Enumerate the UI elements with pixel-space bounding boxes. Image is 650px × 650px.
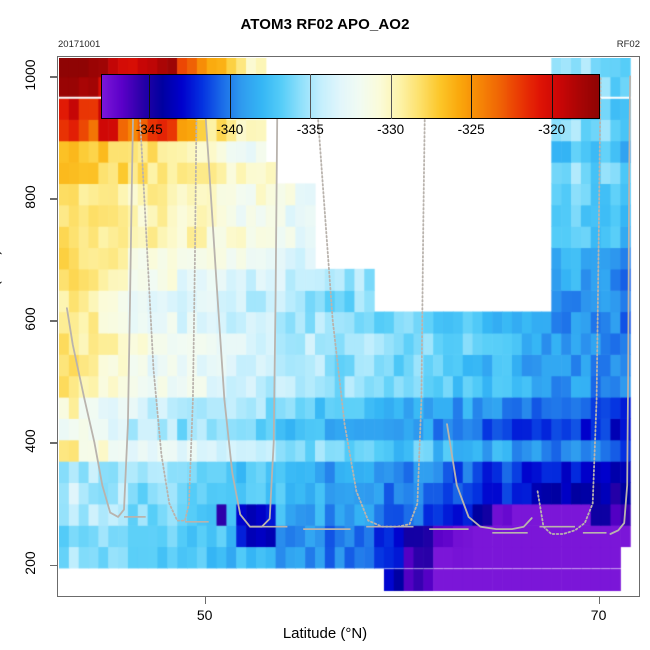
x-axis-label: Latitude (°N) — [0, 625, 650, 642]
date-label: 20171001 — [58, 39, 100, 50]
y-axis-tick — [50, 442, 57, 443]
colorbar-tick-label: -330 — [377, 122, 404, 137]
colorbar: -345-340-335-330-325-320 — [101, 74, 600, 119]
y-axis-tick-label: 200 — [22, 540, 38, 586]
colorbar-tick — [310, 74, 311, 119]
y-axis-tick-label: 1000 — [22, 52, 38, 98]
y-axis-tick-label: 400 — [22, 418, 38, 464]
colorbar-tick-label: -340 — [216, 122, 243, 137]
colorbar-tick-label: -335 — [297, 122, 324, 137]
y-axis-tick-label: 800 — [22, 174, 38, 220]
colorbar-tick — [230, 74, 231, 119]
colorbar-tick — [149, 74, 150, 119]
y-axis-tick — [50, 198, 57, 199]
colorbar-tick — [391, 74, 392, 119]
colorbar-tick — [471, 74, 472, 119]
heatmap-data-area — [59, 58, 638, 595]
colorbar-tick-label: -325 — [458, 122, 485, 137]
y-axis-tick — [50, 565, 57, 566]
figure-root: ATOM3 RF02 APO_AO2 20171001 RF02 -345-34… — [0, 0, 650, 650]
flight-label: RF02 — [617, 39, 640, 50]
y-axis-tick — [50, 76, 57, 77]
y-axis-tick — [50, 320, 57, 321]
colorbar-tick-label: -345 — [136, 122, 163, 137]
x-axis-tick-label: 70 — [591, 607, 607, 623]
colorbar-tick-label: -320 — [538, 122, 565, 137]
y-axis-label: Pressure (hPa) — [0, 220, 3, 380]
heatmap-cells — [59, 58, 638, 595]
y-axis-tick-label: 600 — [22, 296, 38, 342]
colorbar-tick — [552, 74, 553, 119]
x-axis-tick-label: 50 — [197, 607, 213, 623]
colorbar-gradient — [101, 74, 600, 119]
page-title: ATOM3 RF02 APO_AO2 — [0, 16, 650, 33]
x-axis-tick — [599, 597, 600, 604]
x-axis-tick — [205, 597, 206, 604]
